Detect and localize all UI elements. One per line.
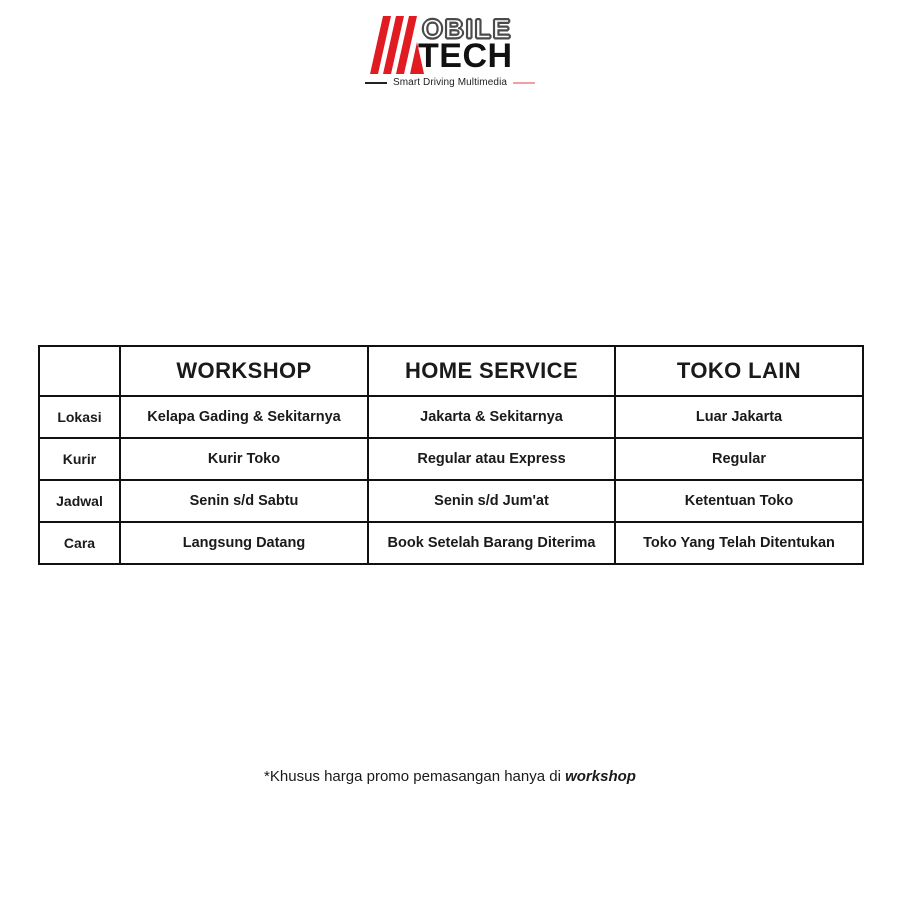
column-header-home-service: HOME SERVICE bbox=[368, 346, 615, 396]
cell-lokasi-toko-lain: Luar Jakarta bbox=[615, 396, 863, 438]
logo-wordmark: OBILE TECH bbox=[370, 14, 530, 76]
cell-kurir-workshop: Kurir Toko bbox=[120, 438, 368, 480]
service-comparison-table-wrapper: WORKSHOP HOME SERVICE TOKO LAIN Lokasi K… bbox=[38, 345, 862, 565]
service-comparison-table: WORKSHOP HOME SERVICE TOKO LAIN Lokasi K… bbox=[38, 345, 864, 565]
cell-cara-workshop: Langsung Datang bbox=[120, 522, 368, 564]
table-row: Cara Langsung Datang Book Setelah Barang… bbox=[39, 522, 863, 564]
row-label-jadwal: Jadwal bbox=[39, 480, 120, 522]
table-row: Kurir Kurir Toko Regular atau Express Re… bbox=[39, 438, 863, 480]
footnote-text: *Khusus harga promo pemasangan hanya di bbox=[264, 768, 565, 785]
logo-tagline: Smart Driving Multimedia bbox=[393, 77, 507, 88]
cell-cara-home-service: Book Setelah Barang Diterima bbox=[368, 522, 615, 564]
cell-lokasi-home-service: Jakarta & Sekitarnya bbox=[368, 396, 615, 438]
footnote-emphasis: workshop bbox=[565, 768, 636, 785]
cell-jadwal-toko-lain: Ketentuan Toko bbox=[615, 480, 863, 522]
table-row: Lokasi Kelapa Gading & Sekitarnya Jakart… bbox=[39, 396, 863, 438]
cell-jadwal-home-service: Senin s/d Jum'at bbox=[368, 480, 615, 522]
table-corner-cell bbox=[39, 346, 120, 396]
logo-tagline-row: Smart Driving Multimedia bbox=[365, 77, 535, 88]
table-header-row: WORKSHOP HOME SERVICE TOKO LAIN bbox=[39, 346, 863, 396]
cell-kurir-toko-lain: Regular bbox=[615, 438, 863, 480]
brand-logo: OBILE TECH Smart Driving Multimedia bbox=[0, 14, 900, 104]
promo-footnote: *Khusus harga promo pemasangan hanya di … bbox=[0, 768, 900, 785]
tagline-rule-left-icon bbox=[365, 82, 387, 84]
column-header-workshop: WORKSHOP bbox=[120, 346, 368, 396]
table-row: Jadwal Senin s/d Sabtu Senin s/d Jum'at … bbox=[39, 480, 863, 522]
tagline-rule-right-icon bbox=[513, 82, 535, 84]
row-label-lokasi: Lokasi bbox=[39, 396, 120, 438]
logo-text-tech: TECH bbox=[418, 38, 513, 74]
row-label-cara: Cara bbox=[39, 522, 120, 564]
cell-kurir-home-service: Regular atau Express bbox=[368, 438, 615, 480]
row-label-kurir: Kurir bbox=[39, 438, 120, 480]
cell-lokasi-workshop: Kelapa Gading & Sekitarnya bbox=[120, 396, 368, 438]
cell-cara-toko-lain: Toko Yang Telah Ditentukan bbox=[615, 522, 863, 564]
cell-jadwal-workshop: Senin s/d Sabtu bbox=[120, 480, 368, 522]
column-header-toko-lain: TOKO LAIN bbox=[615, 346, 863, 396]
